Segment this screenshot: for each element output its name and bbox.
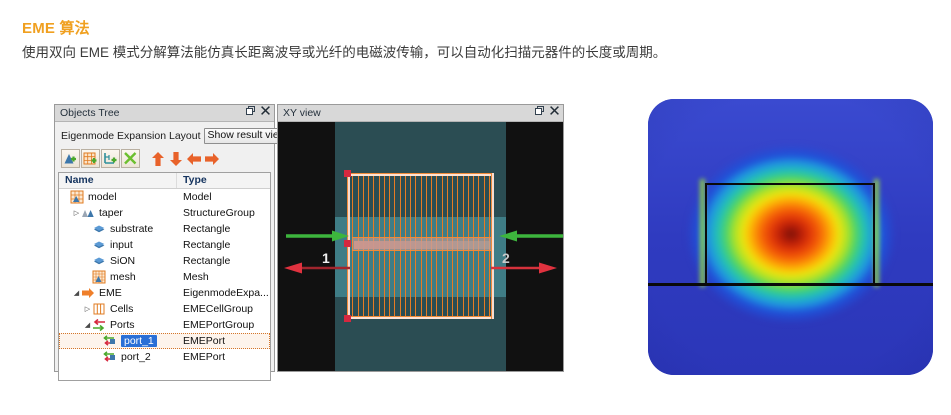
tree-twisty <box>83 253 92 269</box>
rectangle-icon <box>92 238 106 252</box>
objects-tree-panel: Objects Tree Eigenmode Expansion Layout … <box>54 104 275 372</box>
page-subtitle: 使用双向 EME 模式分解算法能仿真长距离波导或光纤的电磁波传输，可以自动化扫描… <box>22 41 666 61</box>
tree-twisty[interactable]: ▷ <box>83 301 92 317</box>
rectangle-icon <box>92 254 106 268</box>
objects-tree-toolbar <box>58 146 271 171</box>
tree-row-eme[interactable]: ◢EMEEigenmodeExpa... <box>59 285 270 301</box>
tree-row-mesh[interactable]: meshMesh <box>59 269 270 285</box>
tree-row-type: EigenmodeExpa... <box>177 287 270 299</box>
tree-row-name: mesh <box>110 271 136 283</box>
eme-mode-field-profile <box>648 99 933 375</box>
objects-tree-list[interactable]: Name Type modelModel▷taperStructureGroup… <box>58 172 271 381</box>
restore-icon[interactable] <box>535 106 544 115</box>
tree-rows-container: modelModel▷taperStructureGroupsubstrateR… <box>59 189 270 365</box>
tree-row-name: input <box>110 239 133 251</box>
region-edge-top <box>347 173 494 176</box>
tree-row-name: Ports <box>110 319 135 331</box>
objects-tree-title-label: Objects Tree <box>60 107 120 119</box>
tree-row-input[interactable]: inputRectangle <box>59 237 270 253</box>
tapered-waveguide[interactable] <box>352 237 492 251</box>
tree-row-name: port_1 <box>121 335 157 347</box>
move-left-arrow[interactable] <box>185 149 202 168</box>
move-down-arrow[interactable] <box>167 149 184 168</box>
port-icon <box>103 350 117 364</box>
rectangle-icon <box>92 222 106 236</box>
tree-twisty <box>83 269 92 285</box>
eme-icon <box>81 286 95 300</box>
mesh-icon <box>92 270 106 284</box>
port1-backward-arrow-icon <box>278 262 350 274</box>
move-right-arrow[interactable] <box>203 149 220 168</box>
tree-twisty[interactable]: ◢ <box>72 285 81 301</box>
tree-twisty <box>94 333 103 349</box>
xy-view-title-label: XY view <box>283 107 321 119</box>
model-icon <box>70 190 84 204</box>
port1-label: 1 <box>322 250 330 266</box>
tree-header: Name Type <box>59 173 270 189</box>
tree-row-taper[interactable]: ▷taperStructureGroup <box>59 205 270 221</box>
tree-twisty <box>94 349 103 365</box>
eigenmode-expansion-layout-label: Eigenmode Expansion Layout <box>61 130 201 142</box>
xy-view-panel: XY view <box>277 104 564 372</box>
tree-row-type: Model <box>177 191 270 203</box>
tree-row-sion[interactable]: SiONRectangle <box>59 253 270 269</box>
port1-forward-arrow-icon <box>286 230 352 242</box>
port2-forward-arrow-icon <box>493 230 563 242</box>
port2-label: 2 <box>502 250 510 266</box>
tree-row-name: Cells <box>110 303 133 315</box>
tree-row-model[interactable]: modelModel <box>59 189 270 205</box>
layout-row: Eigenmode Expansion Layout Show result v… <box>58 125 271 146</box>
tree-row-type: EMECellGroup <box>177 303 270 315</box>
tree-twisty <box>83 221 92 237</box>
tree-row-type: Mesh <box>177 271 270 283</box>
tree-twisty[interactable]: ▷ <box>72 205 81 221</box>
tree-row-type: Rectangle <box>177 223 270 235</box>
tree-twisty[interactable]: ◢ <box>83 317 92 333</box>
field-vignette <box>648 99 933 375</box>
tree-twisty <box>61 189 70 205</box>
tree-row-type: Rectangle <box>177 239 270 251</box>
tree-row-name: EME <box>99 287 122 299</box>
region-edge-bottom <box>347 316 494 319</box>
tree-row-port_1[interactable]: port_1EMEPort <box>59 333 270 349</box>
add-monitor-icon[interactable] <box>101 149 120 168</box>
tree-row-port_2[interactable]: port_2EMEPort <box>59 349 270 365</box>
tree-row-name: substrate <box>110 223 153 235</box>
objects-tree-titlebar: Objects Tree <box>55 105 274 122</box>
add-structure-icon[interactable] <box>61 149 80 168</box>
tree-row-type: EMEPort <box>177 335 270 347</box>
tree-row-substrate[interactable]: substrateRectangle <box>59 221 270 237</box>
tree-row-type: EMEPort <box>177 351 270 363</box>
group-icon <box>81 206 95 220</box>
port-icon <box>103 334 117 348</box>
tree-row-name: model <box>88 191 117 203</box>
resize-handle-bottom-left[interactable] <box>344 315 351 322</box>
tree-row-type: EMEPortGroup <box>177 319 270 331</box>
close-icon[interactable] <box>261 106 270 115</box>
cells-icon <box>92 302 106 316</box>
close-icon[interactable] <box>550 106 559 115</box>
tree-row-type: Rectangle <box>177 255 270 267</box>
tree-row-name: taper <box>99 207 123 219</box>
tree-row-type: StructureGroup <box>177 207 270 219</box>
tree-row-ports[interactable]: ◢PortsEMEPortGroup <box>59 317 270 333</box>
tree-row-name: port_2 <box>121 351 151 363</box>
column-header-type[interactable]: Type <box>177 173 270 188</box>
tree-row-name: SiON <box>110 255 135 267</box>
waveguide-core <box>354 241 490 249</box>
add-analysis-icon[interactable] <box>121 149 140 168</box>
xy-view-canvas[interactable]: 1 2 <box>278 122 563 371</box>
tree-row-cells[interactable]: ▷CellsEMECellGroup <box>59 301 270 317</box>
move-up-arrow[interactable] <box>149 149 166 168</box>
xy-view-titlebar: XY view <box>278 105 563 122</box>
column-header-name[interactable]: Name <box>59 173 177 188</box>
ports-icon <box>92 318 106 332</box>
page-title: EME 算法 <box>22 17 90 38</box>
restore-icon[interactable] <box>246 106 255 115</box>
tree-twisty <box>83 237 92 253</box>
add-mesh-icon[interactable] <box>81 149 100 168</box>
resize-handle-top-left[interactable] <box>344 170 351 177</box>
